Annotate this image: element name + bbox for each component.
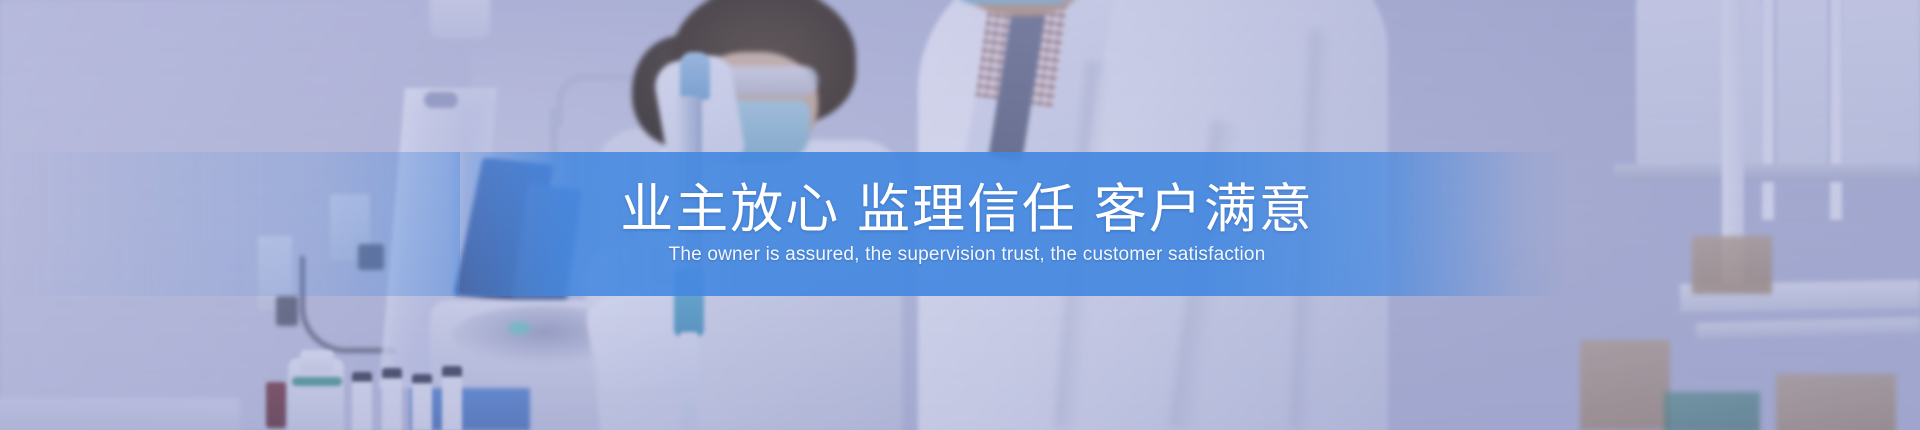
hero-banner: 业主放心 监理信任 客户满意 The owner is assured, the…: [0, 0, 1920, 430]
banner-headline: 业主放心 监理信任 客户满意: [620, 182, 1313, 238]
banner-subheadline: The owner is assured, the supervision tr…: [669, 244, 1266, 267]
banner-copy: 业主放心 监理信任 客户满意 The owner is assured, the…: [0, 152, 1920, 296]
